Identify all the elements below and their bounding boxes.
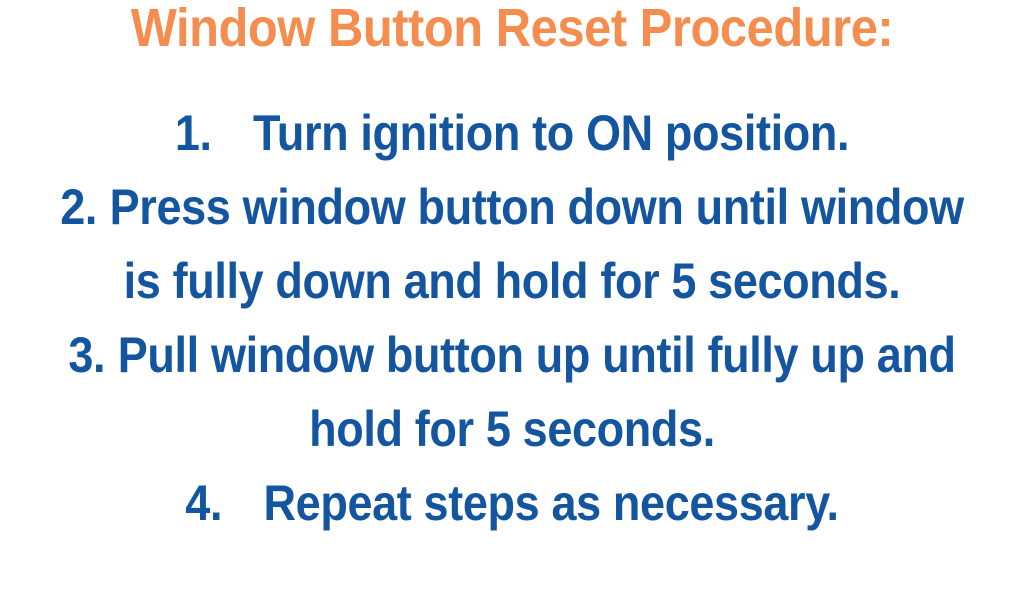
instruction-slide: Window Button Reset Procedure: 1.Turn ig… bbox=[0, 0, 1024, 605]
list-item: 4.Repeat steps as necessary. bbox=[51, 466, 973, 540]
list-item: 2.Press window button down until window … bbox=[51, 170, 973, 318]
list-item-text: Turn ignition to ON position. bbox=[253, 105, 849, 161]
list-item-number: 4. bbox=[185, 475, 222, 531]
list-item: 1.Turn ignition to ON position. bbox=[51, 96, 973, 170]
list-item-number: 3. bbox=[68, 327, 105, 383]
list-item-number: 1. bbox=[175, 105, 212, 161]
page-title: Window Button Reset Procedure: bbox=[49, 0, 976, 58]
list-item-text: Repeat steps as necessary. bbox=[264, 475, 839, 531]
list-item-text: Press window button down until window is… bbox=[110, 179, 964, 309]
list-item: 3.Pull window button up until fully up a… bbox=[51, 318, 973, 466]
list-item-number: 2. bbox=[60, 179, 97, 235]
list-item-text: Pull window button up until fully up and… bbox=[118, 327, 956, 457]
procedure-step-list: 1.Turn ignition to ON position. 2.Press … bbox=[0, 96, 1024, 540]
